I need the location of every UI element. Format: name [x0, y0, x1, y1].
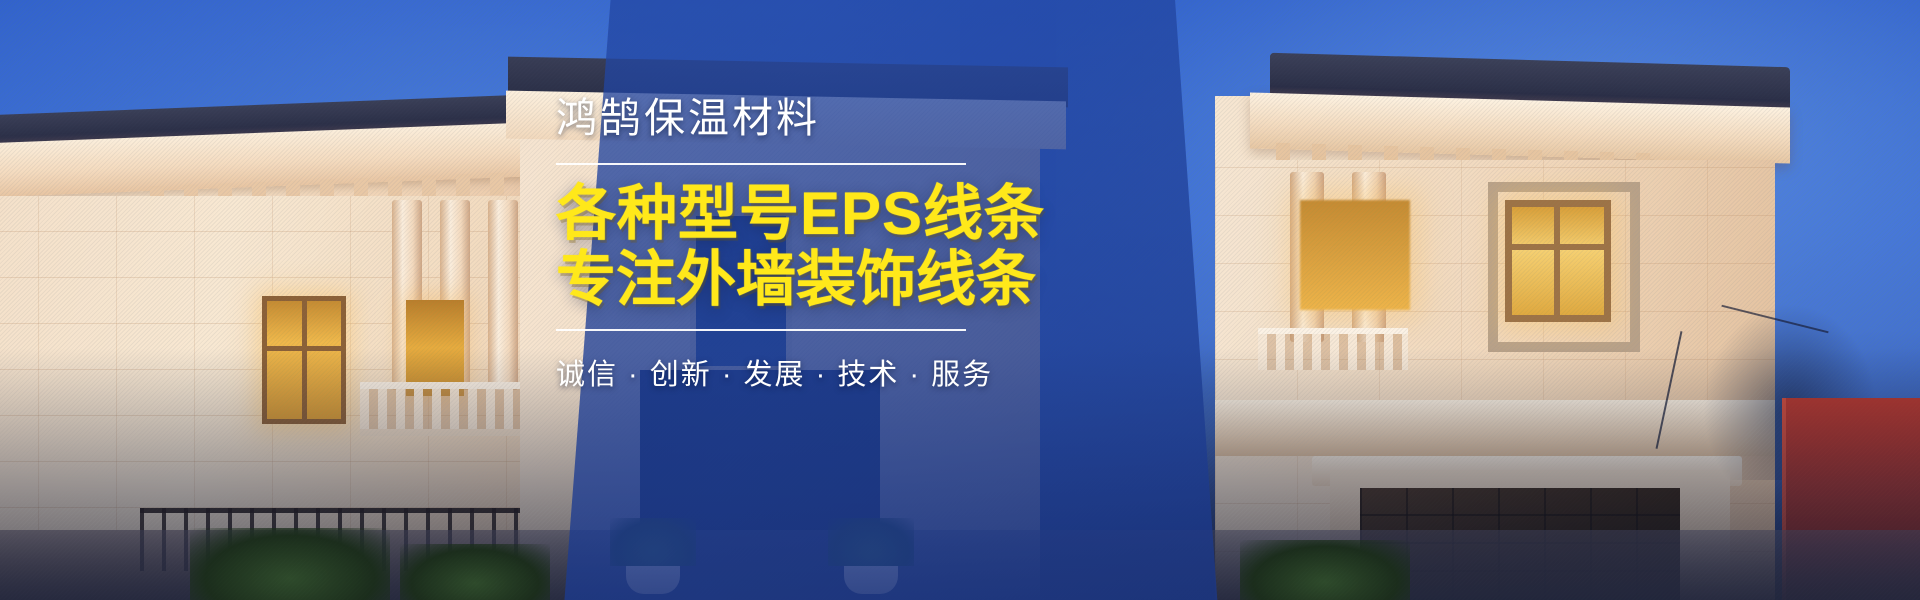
shrub-2: [400, 544, 550, 600]
headline-group: 各种型号EPS线条 专注外墙装饰线条: [556, 181, 986, 313]
brand-name: 鸿鹄保温材料: [556, 96, 986, 141]
right-lit-window: [1505, 200, 1611, 322]
shrub-1: [190, 528, 390, 600]
potted-plant-right: [844, 560, 898, 594]
shrub-3: [1240, 540, 1410, 600]
headline-line-2: 专注外墙装饰线条: [556, 247, 986, 313]
potted-plant-left: [626, 560, 680, 594]
divider-bottom: [556, 329, 966, 331]
tagline: 诚信 · 创新 · 发展 · 技术 · 服务: [556, 351, 986, 393]
hero-banner: 鸿鹄保温材料 各种型号EPS线条 专注外墙装饰线条 诚信 · 创新 · 发展 ·…: [0, 0, 1920, 600]
right-portico-glow: [1300, 200, 1410, 310]
headline-line-1: 各种型号EPS线条: [556, 181, 986, 247]
banner-text-block: 鸿鹄保温材料 各种型号EPS线条 专注外墙装饰线条 诚信 · 创新 · 发展 ·…: [556, 96, 986, 393]
divider-top: [556, 163, 966, 165]
